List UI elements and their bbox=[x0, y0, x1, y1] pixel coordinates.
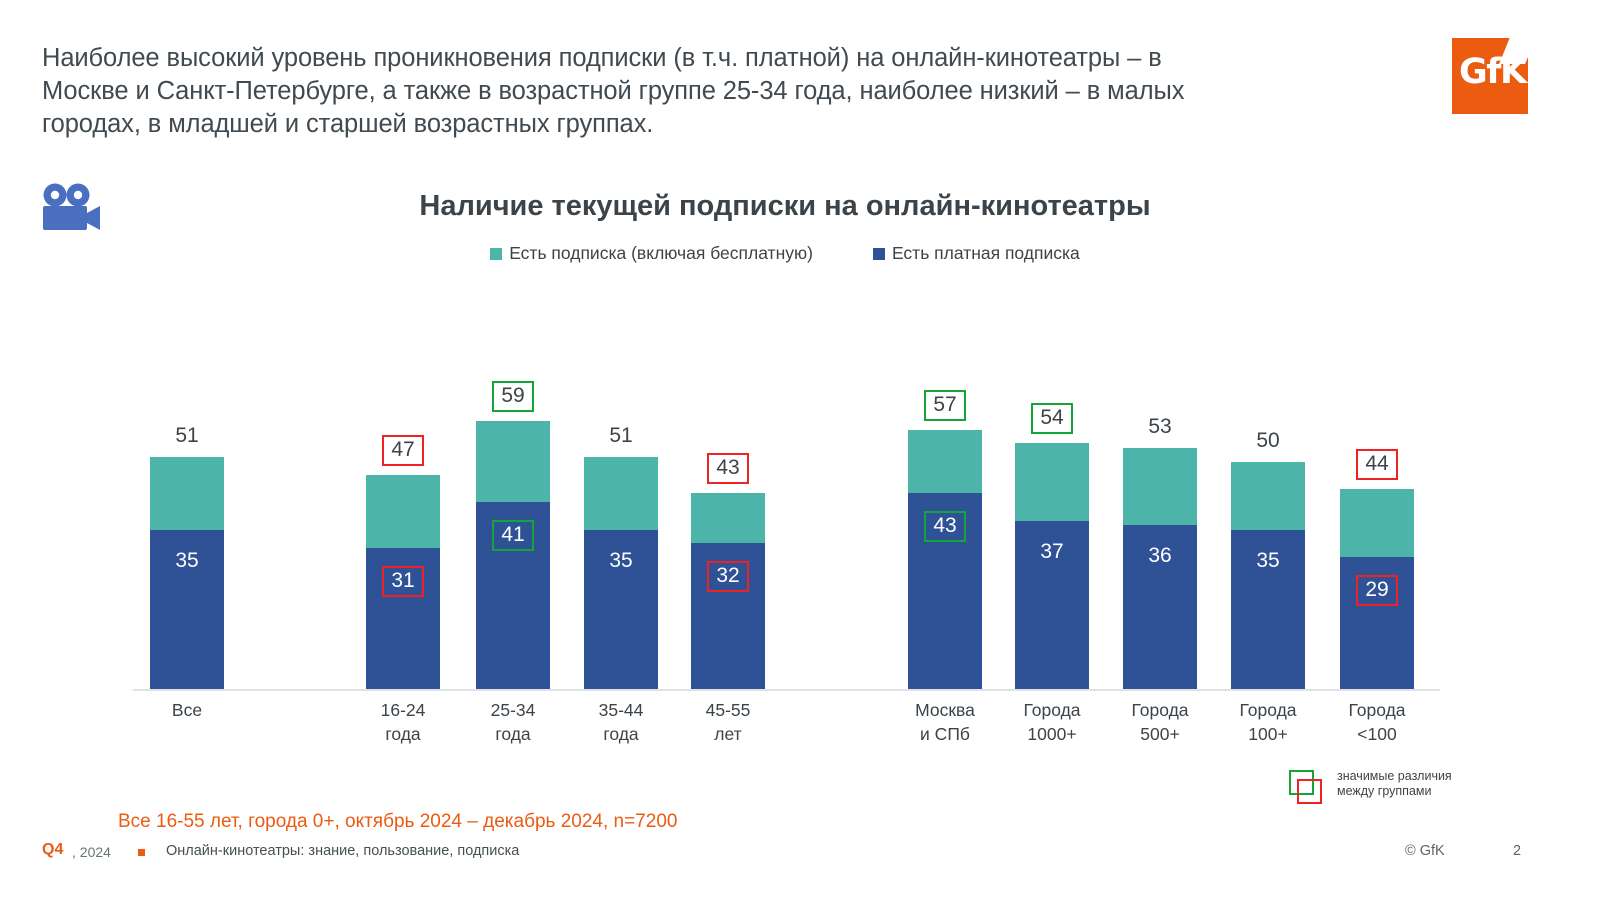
x-axis-label-line: Города bbox=[1131, 700, 1188, 720]
chart-plot-area: 3551Все314716-24года415925-34года355135-… bbox=[0, 0, 1600, 900]
bar-segment-paid[interactable]: 35 bbox=[150, 530, 224, 689]
x-axis-label-line: 1000+ bbox=[1027, 724, 1076, 744]
bar-segment-paid[interactable]: 37 bbox=[1015, 521, 1089, 689]
bar-segment-free[interactable] bbox=[1123, 448, 1197, 525]
bar-segment-paid[interactable]: 36 bbox=[1123, 525, 1197, 689]
x-axis-label-line: Москва bbox=[915, 700, 975, 720]
bar-value-paid: 43 bbox=[908, 511, 982, 542]
footer-page-number: 2 bbox=[1513, 843, 1521, 859]
x-axis-label-line: Города bbox=[1348, 700, 1405, 720]
bar-stack: 32 bbox=[691, 493, 765, 689]
footer-quarter: Q4 bbox=[42, 841, 63, 859]
x-axis-label: 35-44года bbox=[561, 698, 681, 746]
x-axis-label-line: и СПб bbox=[920, 724, 970, 744]
x-axis-label-line: лет bbox=[714, 724, 741, 744]
bar-column[interactable]: 3754 bbox=[1015, 443, 1089, 689]
x-axis-label-line: года bbox=[495, 724, 530, 744]
bar-segment-free[interactable] bbox=[150, 457, 224, 530]
x-axis-label-line: 100+ bbox=[1248, 724, 1287, 744]
significance-key-line2: между группами bbox=[1337, 784, 1431, 798]
bar-stack: 35 bbox=[150, 457, 224, 689]
slide-footer: Q4 , 2024 Онлайн-кинотеатры: знание, пол… bbox=[42, 841, 1562, 865]
bar-segment-free[interactable] bbox=[1015, 443, 1089, 520]
bar-value-paid: 36 bbox=[1123, 543, 1197, 568]
bar-value-paid: 35 bbox=[150, 548, 224, 573]
x-axis-label: Все bbox=[127, 698, 247, 722]
x-axis-label-line: Города bbox=[1239, 700, 1296, 720]
bar-segment-paid[interactable]: 31 bbox=[366, 548, 440, 689]
x-axis-label: 45-55лет bbox=[668, 698, 788, 746]
significance-key: значимые различия между группами bbox=[1287, 768, 1537, 808]
bar-stack: 29 bbox=[1340, 489, 1414, 689]
bar-stack: 35 bbox=[1231, 462, 1305, 690]
bar-segment-free[interactable] bbox=[366, 475, 440, 548]
base-text: Все 16-55 лет, города 0+, октябрь 2024 –… bbox=[118, 811, 677, 833]
bar-segment-paid[interactable]: 41 bbox=[476, 502, 550, 689]
bar-value-total: 50 bbox=[1231, 428, 1305, 453]
x-axis-label: Города500+ bbox=[1100, 698, 1220, 746]
bar-column[interactable]: 3550 bbox=[1231, 462, 1305, 690]
bar-column[interactable]: 4159 bbox=[476, 421, 550, 689]
bar-column[interactable]: 3243 bbox=[691, 493, 765, 689]
bar-segment-paid[interactable]: 35 bbox=[1231, 530, 1305, 689]
bar-stack: 41 bbox=[476, 421, 550, 689]
bar-segment-free[interactable] bbox=[908, 430, 982, 494]
bar-segment-free[interactable] bbox=[476, 421, 550, 503]
bar-stack: 35 bbox=[584, 457, 658, 689]
x-axis-label-line: 35-44 bbox=[599, 700, 644, 720]
x-axis-label-line: года bbox=[385, 724, 420, 744]
bar-value-paid: 29 bbox=[1340, 575, 1414, 606]
bar-value-paid: 31 bbox=[366, 566, 440, 597]
x-axis-line bbox=[133, 689, 1440, 691]
bar-segment-paid[interactable]: 43 bbox=[908, 493, 982, 689]
bar-value-total: 51 bbox=[150, 423, 224, 448]
x-axis-label-line: 25-34 bbox=[491, 700, 536, 720]
bar-column[interactable]: 2944 bbox=[1340, 489, 1414, 689]
bar-column[interactable]: 3653 bbox=[1123, 448, 1197, 689]
bar-value-total: 44 bbox=[1340, 449, 1414, 480]
bar-stack: 43 bbox=[908, 430, 982, 689]
bar-value-paid: 35 bbox=[584, 548, 658, 573]
x-axis-label-line: 45-55 bbox=[706, 700, 751, 720]
footer-bullet-icon bbox=[138, 849, 145, 856]
bar-segment-paid[interactable]: 32 bbox=[691, 543, 765, 689]
footer-title: Онлайн-кинотеатры: знание, пользование, … bbox=[166, 843, 519, 859]
bar-segment-free[interactable] bbox=[1231, 462, 1305, 530]
significance-key-line1: значимые различия bbox=[1337, 769, 1452, 783]
bar-value-total: 43 bbox=[691, 453, 765, 484]
bar-column[interactable]: 4357 bbox=[908, 430, 982, 689]
bar-value-total: 47 bbox=[366, 435, 440, 466]
bar-segment-paid[interactable]: 35 bbox=[584, 530, 658, 689]
x-axis-label-line: года bbox=[603, 724, 638, 744]
bar-value-total: 59 bbox=[476, 381, 550, 412]
bar-value-total: 51 bbox=[584, 423, 658, 448]
x-axis-label-line: 16-24 bbox=[381, 700, 426, 720]
bar-segment-free[interactable] bbox=[584, 457, 658, 530]
x-axis-label: Города<100 bbox=[1317, 698, 1437, 746]
footer-copyright: © GfK bbox=[1405, 843, 1445, 859]
significance-key-red-box bbox=[1297, 779, 1322, 804]
x-axis-label: Города100+ bbox=[1208, 698, 1328, 746]
bar-value-total: 57 bbox=[908, 390, 982, 421]
x-axis-label-line: <100 bbox=[1357, 724, 1396, 744]
x-axis-label: Города1000+ bbox=[992, 698, 1112, 746]
bar-segment-free[interactable] bbox=[1340, 489, 1414, 557]
x-axis-label: 25-34года bbox=[453, 698, 573, 746]
bar-column[interactable]: 3551 bbox=[150, 457, 224, 689]
bar-value-total: 54 bbox=[1015, 403, 1089, 434]
bar-value-paid: 37 bbox=[1015, 539, 1089, 564]
footer-year: , 2024 bbox=[72, 844, 111, 860]
bar-stack: 36 bbox=[1123, 448, 1197, 689]
bar-value-paid: 32 bbox=[691, 561, 765, 592]
x-axis-label: Москваи СПб bbox=[885, 698, 1005, 746]
bar-stack: 31 bbox=[366, 475, 440, 689]
x-axis-label-line: Все bbox=[172, 700, 202, 720]
bar-value-paid: 35 bbox=[1231, 548, 1305, 573]
bar-stack: 37 bbox=[1015, 443, 1089, 689]
x-axis-label: 16-24года bbox=[343, 698, 463, 746]
significance-key-text: значимые различия между группами bbox=[1337, 769, 1537, 798]
bar-column[interactable]: 3147 bbox=[366, 475, 440, 689]
x-axis-label-line: 500+ bbox=[1140, 724, 1179, 744]
bar-segment-free[interactable] bbox=[691, 493, 765, 543]
bar-segment-paid[interactable]: 29 bbox=[1340, 557, 1414, 689]
x-axis-label-line: Города bbox=[1023, 700, 1080, 720]
bar-column[interactable]: 3551 bbox=[584, 457, 658, 689]
bar-value-paid: 41 bbox=[476, 520, 550, 551]
bar-value-total: 53 bbox=[1123, 414, 1197, 439]
